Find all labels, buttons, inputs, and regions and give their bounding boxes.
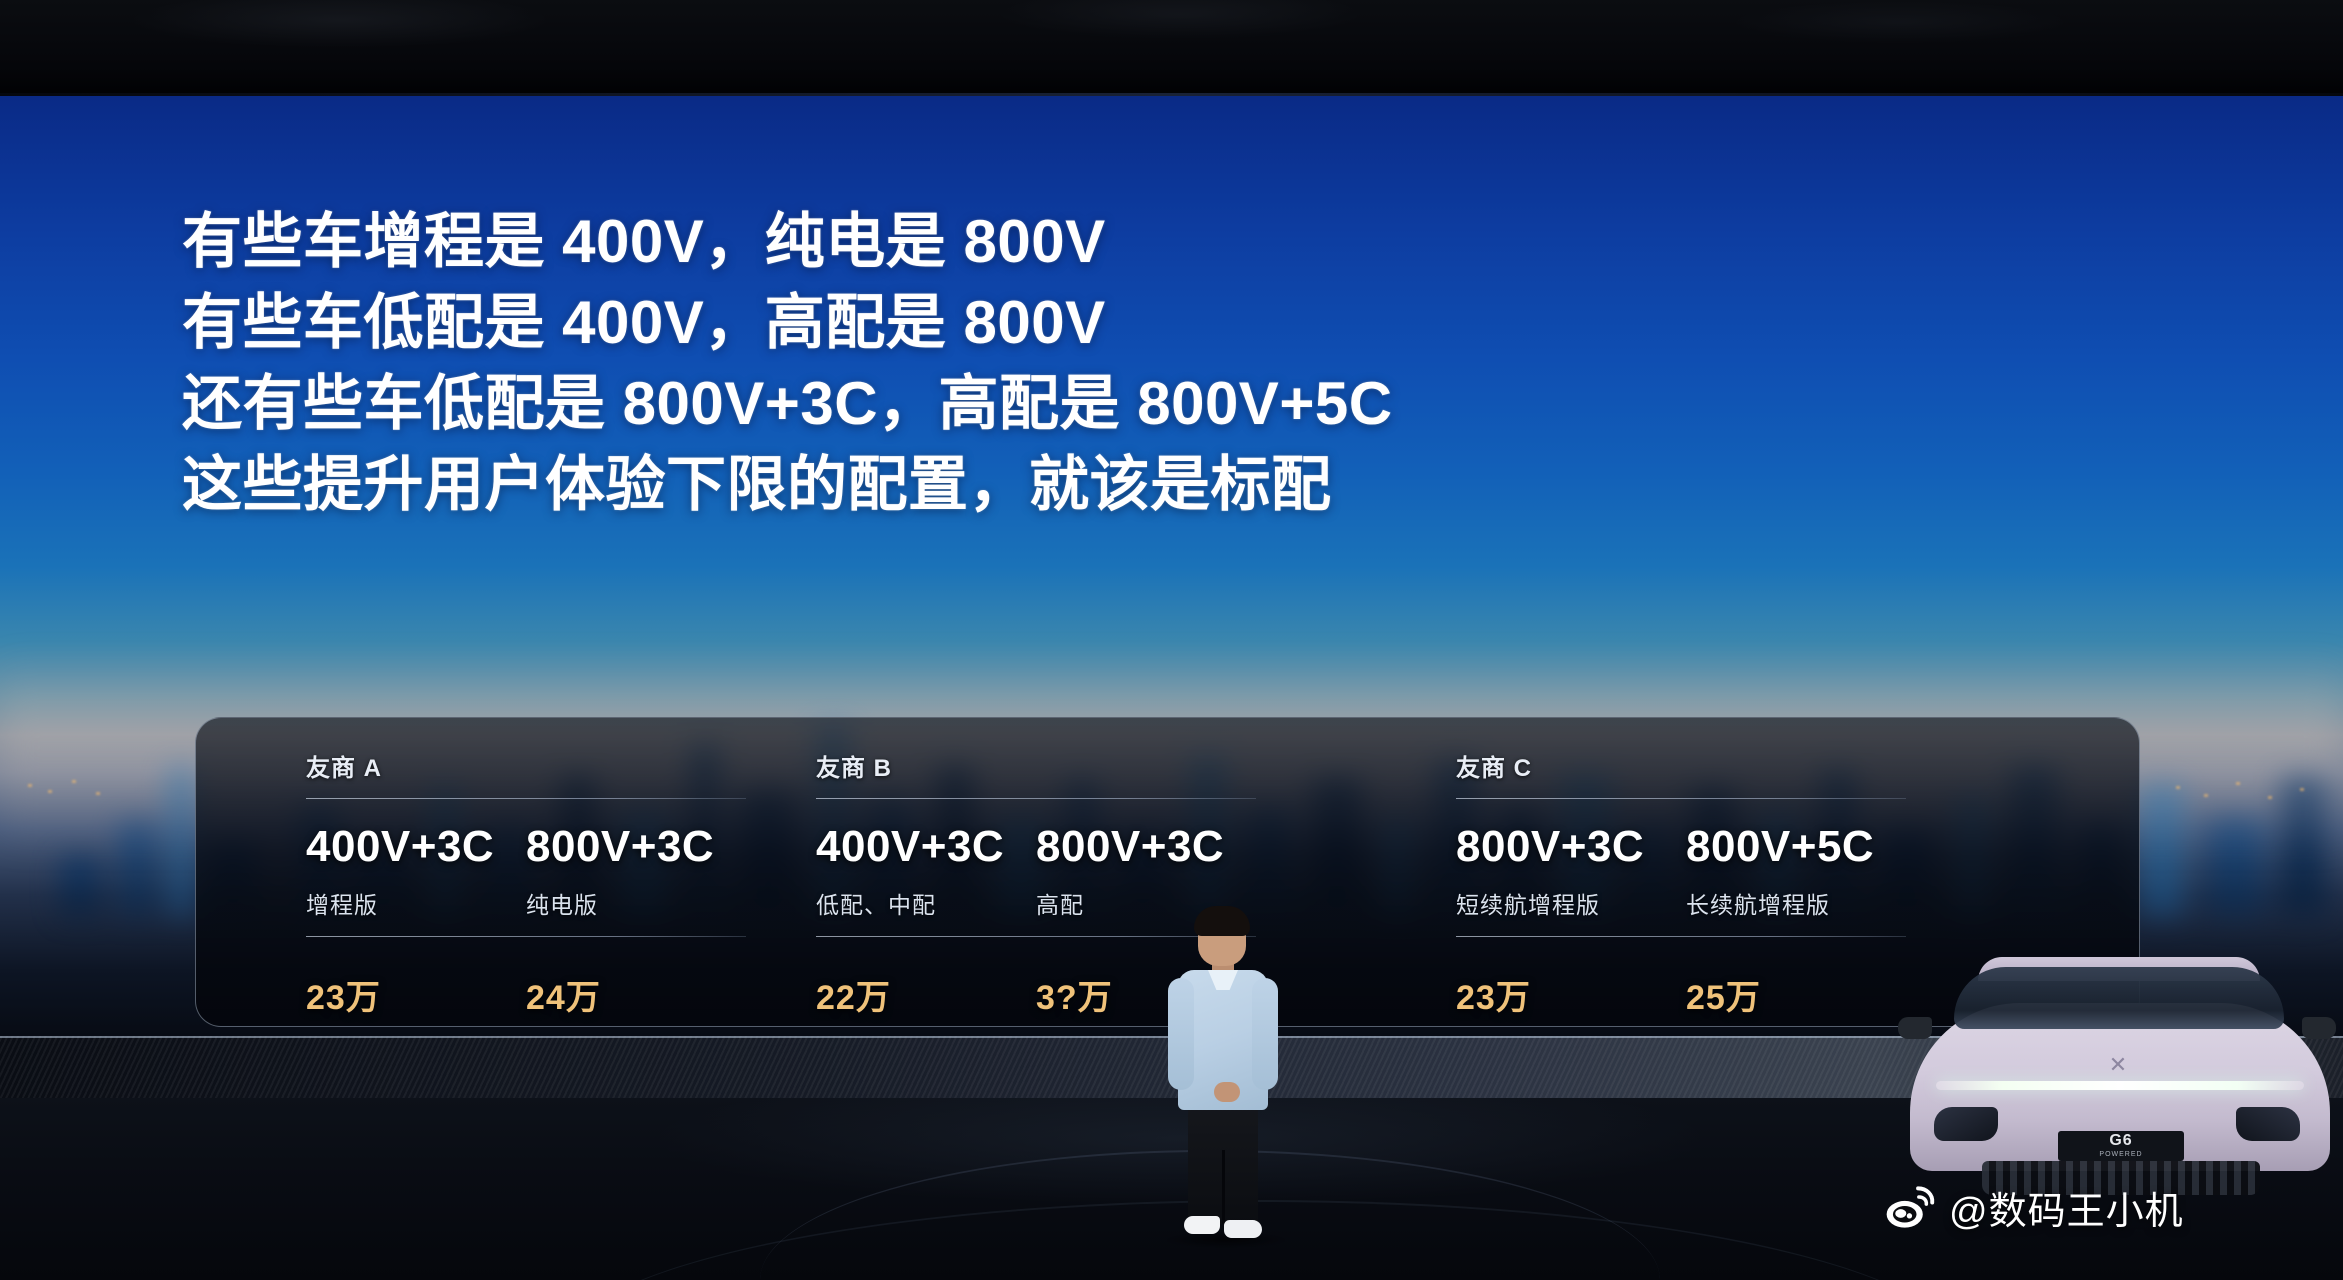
group-a-rule-bottom — [306, 936, 746, 937]
spec-value: 400V+3C — [306, 822, 494, 872]
group-c-rule-top — [1456, 798, 1906, 799]
car-windshield — [1954, 967, 2284, 1029]
variant-label: 增程版 — [306, 886, 378, 920]
variant-label: 短续航增程版 — [1456, 886, 1600, 920]
group-a-rule-top — [306, 798, 746, 799]
variant-label: 长续航增程版 — [1686, 886, 1830, 920]
spec-value: 800V+3C — [1036, 822, 1224, 872]
headline-line-2: 有些车低配是 400V，高配是 800V — [182, 285, 1682, 361]
car-headlight-left — [1934, 1107, 1998, 1141]
presenter-shoe-right — [1224, 1220, 1262, 1238]
headline-line-3: 还有些车低配是 800V+3C，高配是 800V+5C — [182, 366, 1682, 442]
car-plate: G6 POWERED — [2058, 1131, 2184, 1161]
group-b-label: 友商 B — [816, 748, 892, 783]
car-plate-model: G6 — [2058, 1131, 2184, 1151]
group-b-rule-top — [816, 798, 1256, 799]
spec-value: 800V+3C — [526, 822, 714, 872]
variant-label: 低配、中配 — [816, 886, 936, 920]
watermark: @数码王小机 — [1885, 1180, 2184, 1235]
car-headlight-right — [2236, 1107, 2300, 1141]
car-mirror-left — [1898, 1017, 1932, 1039]
group-a-label: 友商 A — [306, 748, 382, 783]
competitor-group-a: 友商 A 400V+3C 增程版 23万 800V+3C 纯电版 24万 — [196, 718, 816, 1026]
headline-line-4: 这些提升用户体验下限的配置，就该是标配 — [182, 447, 1682, 523]
car-light-bar — [1936, 1081, 2304, 1090]
variant-label: 纯电版 — [526, 886, 598, 920]
xpeng-g6-car: ✕ G6 POWERED — [1892, 955, 2343, 1215]
car-plate-sub: POWERED — [2058, 1151, 2184, 1158]
competitor-group-b: 友商 B 400V+3C 低配、中配 22万 800V+3C 高配 3?万 — [816, 718, 1456, 1026]
slide-headline: 有些车增程是 400V，纯电是 800V 有些车低配是 400V，高配是 800… — [182, 204, 1682, 523]
presenter-hands — [1214, 1082, 1240, 1102]
presenter-shoe-left — [1184, 1216, 1220, 1234]
headline-line-1: 有些车增程是 400V，纯电是 800V — [182, 204, 1682, 280]
weibo-icon — [1885, 1186, 1937, 1230]
group-c-rule-bottom — [1456, 936, 1906, 937]
price-value: 23万 — [1456, 970, 1531, 1019]
led-wall-slide: 有些车增程是 400V，纯电是 800V 有些车低配是 400V，高配是 800… — [0, 96, 2343, 1036]
stage-scene: 有些车增程是 400V，纯电是 800V 有些车低配是 400V，高配是 800… — [0, 0, 2343, 1280]
spec-value: 400V+3C — [816, 822, 1004, 872]
xpeng-logo-icon: ✕ — [2098, 1055, 2138, 1075]
price-value: 22万 — [816, 970, 891, 1019]
presenter-arm-left — [1168, 978, 1194, 1090]
presenter-arm-right — [1252, 978, 1278, 1090]
presenter-leg-split — [1222, 1150, 1225, 1224]
ceiling-truss — [0, 0, 2343, 96]
car-mirror-right — [2302, 1017, 2336, 1039]
presenter-hair — [1194, 906, 1250, 936]
price-value: 25万 — [1686, 970, 1761, 1019]
presenter-figure — [1160, 910, 1290, 1250]
price-value: 23万 — [306, 970, 381, 1019]
watermark-handle: @数码王小机 — [1949, 1180, 2184, 1235]
group-c-label: 友商 C — [1456, 748, 1532, 783]
price-value: 3?万 — [1036, 970, 1113, 1019]
spec-value: 800V+3C — [1456, 822, 1644, 872]
variant-label: 高配 — [1036, 886, 1084, 920]
spec-value: 800V+5C — [1686, 822, 1874, 872]
price-value: 24万 — [526, 970, 601, 1019]
